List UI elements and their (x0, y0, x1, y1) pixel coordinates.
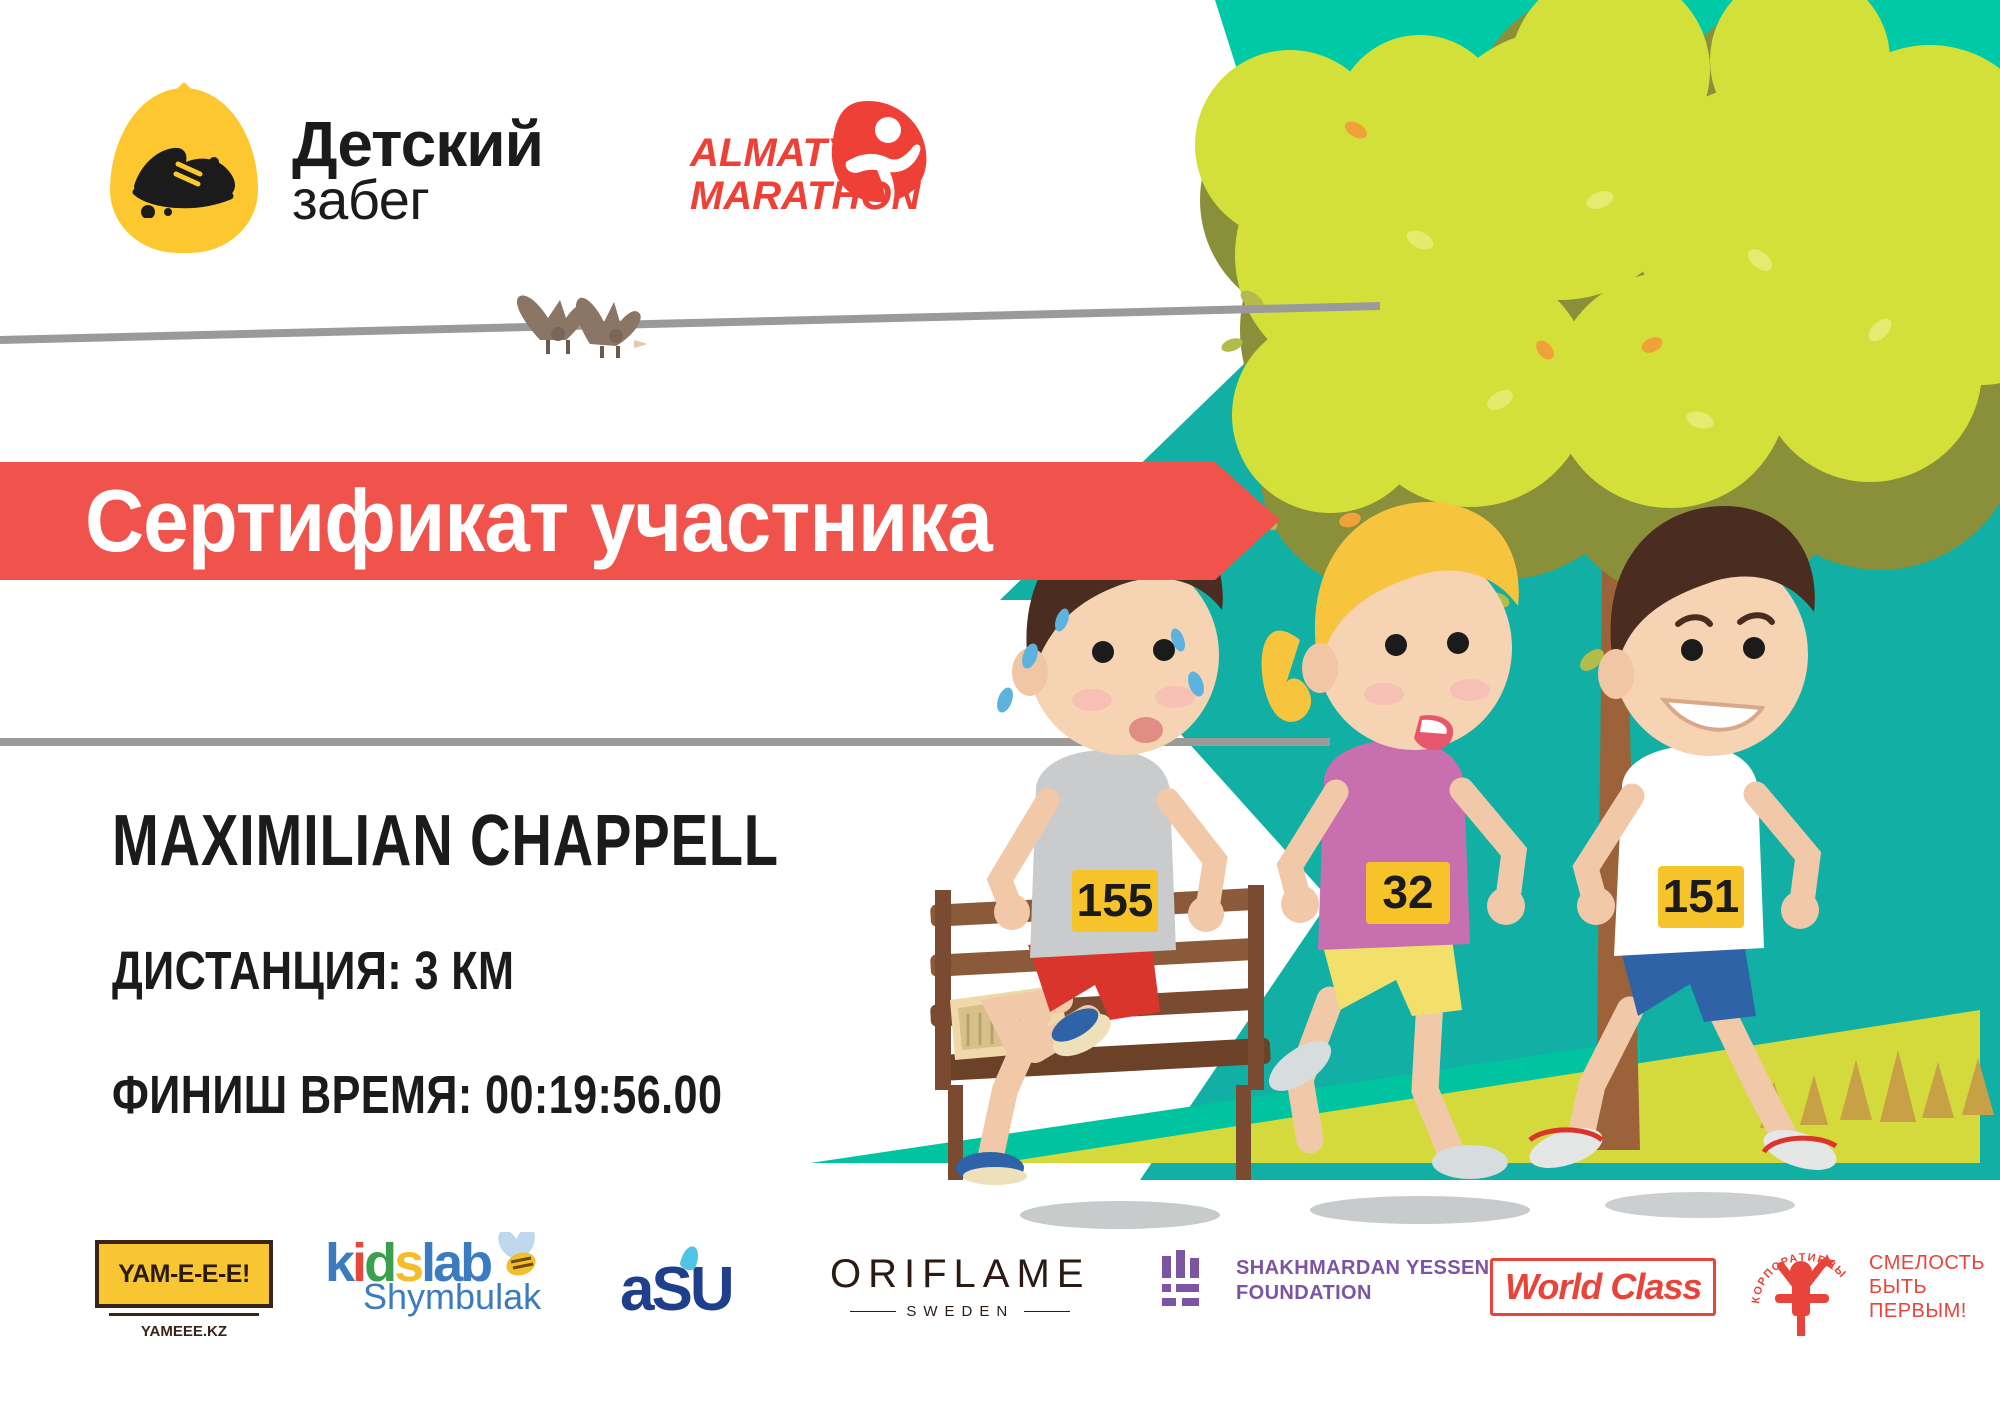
sponsor-worldclass: World Class (1490, 1258, 1716, 1316)
participant-info: MAXIMILIAN CHAPPELL ДИСТАНЦИЯ: 3 КМ ФИНИ… (112, 800, 912, 1126)
sponsor-sublabel: FOUNDATION (1236, 1281, 1519, 1306)
brand-line1: Детский (292, 115, 543, 174)
oriflame-sub: SWEDEN (850, 1303, 1070, 1320)
smelost-wordmark: СМЕЛОСТЬБЫТЬПЕРВЫМ! (1869, 1251, 1985, 1323)
sponsor-sublabel: YAMEEE.KZ (141, 1323, 227, 1340)
sponsor-asu: aSU (620, 1254, 732, 1325)
sponsor-sublabel: Shymbulak (363, 1276, 541, 1318)
yessenov-mark-icon (1160, 1250, 1218, 1312)
divider (850, 1311, 896, 1313)
svg-text:32: 32 (1382, 866, 1433, 918)
page-title: Сертификат участника (85, 470, 992, 572)
almaty-marathon-logo: ALMATY MARATHON (690, 96, 960, 226)
yessenov-wordmark: SHAKHMARDAN YESSENOV FOUNDATION (1236, 1256, 1519, 1306)
certificate-canvas: 155 (0, 0, 2000, 1413)
sponsor-row: YAM-E-E-E! YAMEEE.KZ kidslab Shymbulak a… (0, 1228, 2000, 1358)
sponsor-label: YAM-E-E-E! (118, 1260, 250, 1289)
runner-155: 155 (956, 512, 1224, 1185)
sponsor-yameee: YAM-E-E-E! YAMEEE.KZ (95, 1240, 273, 1340)
marathon-line2: MARATHON (690, 175, 920, 218)
sponsor-sublabel: SWEDEN (906, 1303, 1014, 1320)
brand-line2: забег (292, 174, 543, 226)
divider (109, 1313, 259, 1316)
sponsor-label: SHAKHMARDAN YESSENOV (1236, 1256, 1519, 1281)
brand-logo: Детский забег (110, 88, 543, 253)
participant-finish-time: ФИНИШ ВРЕМЯ: 00:19:56.00 (112, 1064, 752, 1126)
marathon-line1: ALMATY (690, 132, 920, 175)
yameee-bar: YAM-E-E-E! (95, 1240, 273, 1308)
sponsor-oriflame: ORIFLAME SWEDEN (830, 1252, 1090, 1320)
bee-icon (495, 1232, 545, 1280)
running-shoe-icon (110, 88, 258, 253)
sponsor-yessenov: SHAKHMARDAN YESSENOV FOUNDATION (1160, 1250, 1519, 1312)
participant-name: MAXIMILIAN CHAPPELL (112, 800, 736, 882)
sponsor-label: aSU (620, 1254, 732, 1325)
sponsor-smelost: КОРПОРАТИВНЫЙ ФОНД СМЕЛОСТЬБЫТЬПЕРВЫМ! (1745, 1232, 1985, 1342)
certificate-title-banner: Сертификат участника (0, 462, 1280, 580)
runner-151: 151 (1525, 506, 1842, 1178)
sponsor-label: ORIFLAME (830, 1252, 1090, 1297)
sponsor-label: World Class (1490, 1258, 1716, 1316)
smelost-figure-icon: КОРПОРАТИВНЫЙ ФОНД (1745, 1232, 1855, 1342)
svg-text:151: 151 (1663, 870, 1740, 922)
participant-distance: ДИСТАНЦИЯ: 3 КМ (112, 940, 752, 1002)
divider (1024, 1311, 1070, 1313)
runner-32: 32 (1261, 502, 1525, 1179)
svg-text:155: 155 (1077, 874, 1154, 926)
sponsor-kidslab: kidslab Shymbulak (325, 1236, 541, 1318)
